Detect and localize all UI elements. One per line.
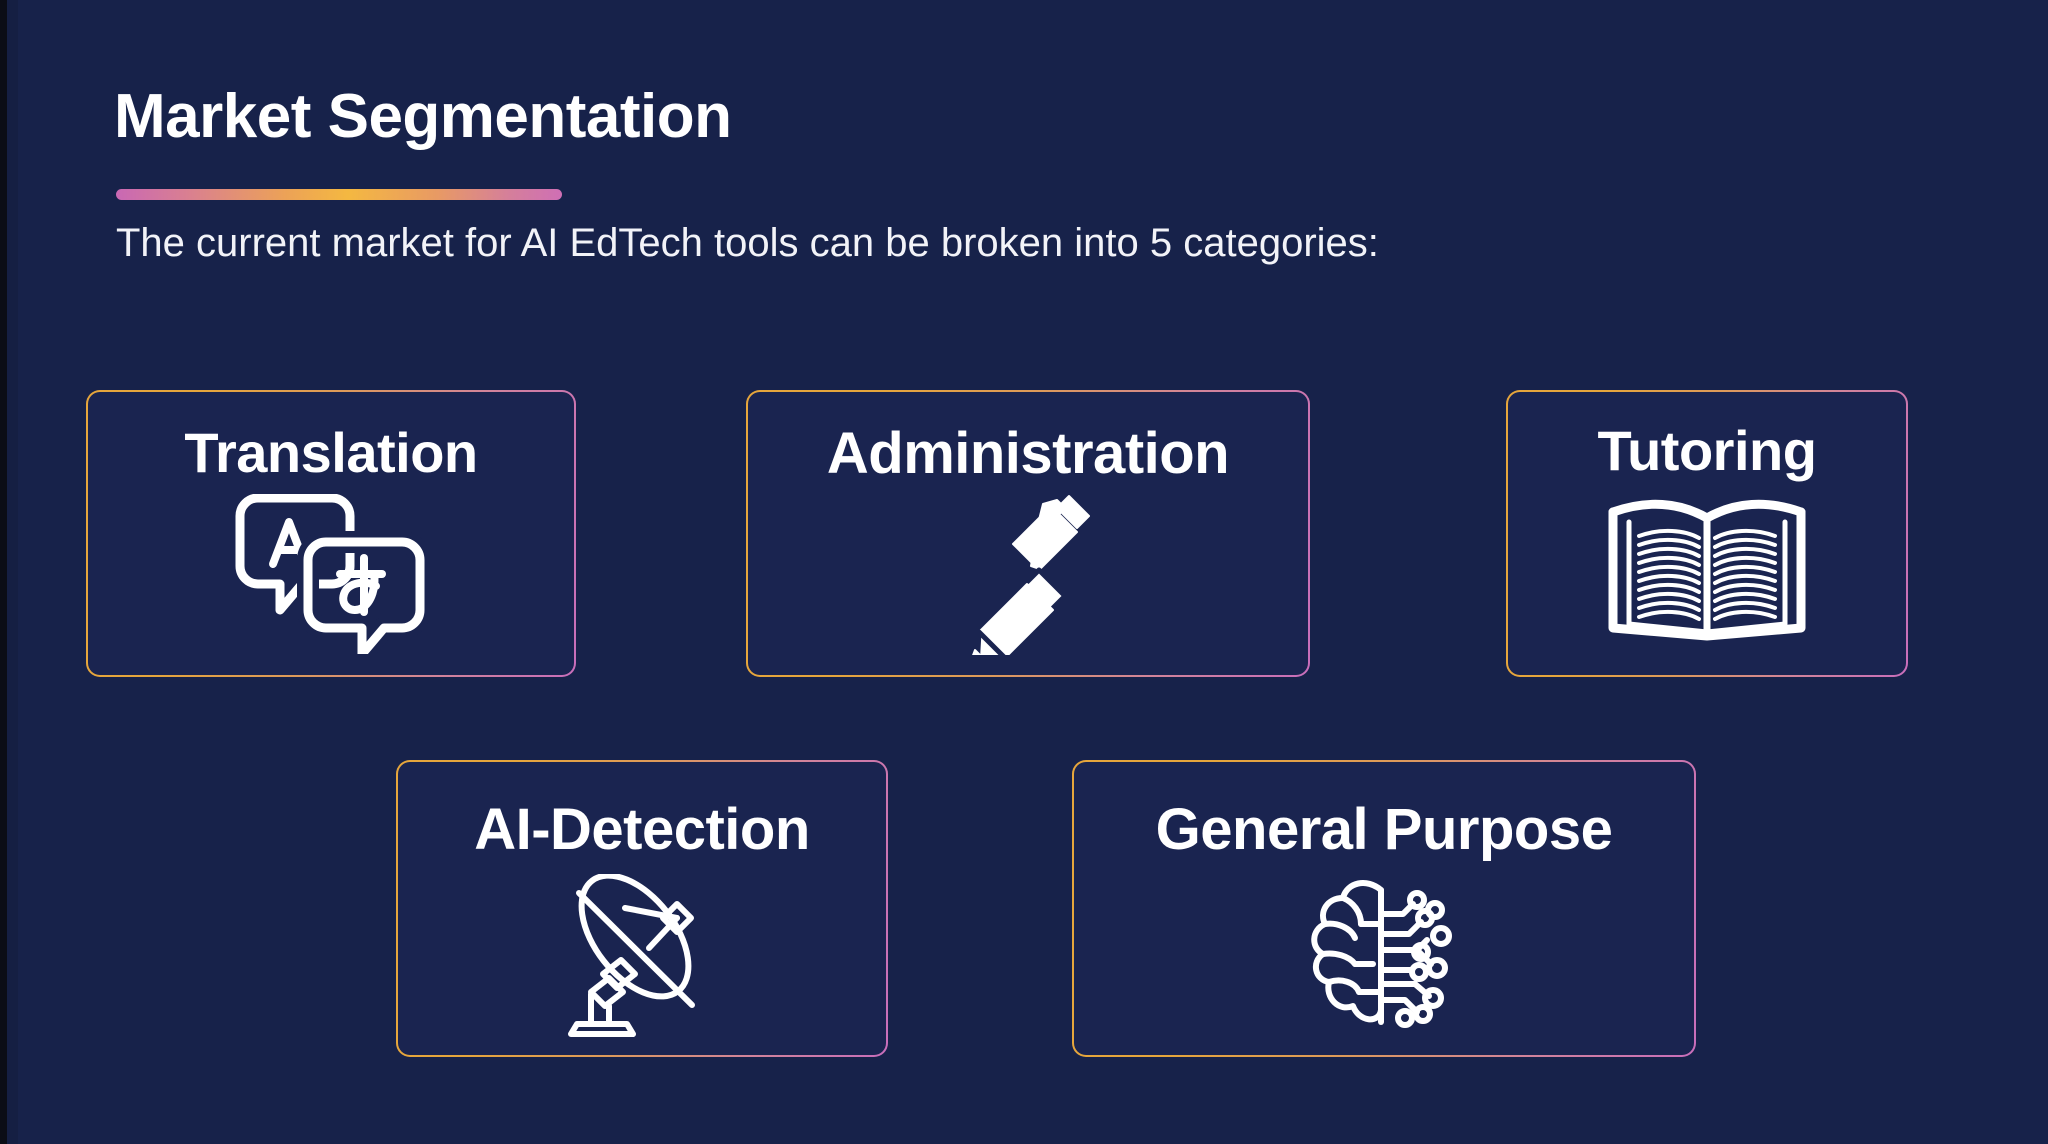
card-title-translation: Translation	[88, 420, 574, 485]
ai-brain-circuit-icon	[1074, 872, 1694, 1032]
card-inner: General Purpose	[1074, 762, 1694, 1055]
left-edge-bezel	[0, 0, 7, 1144]
pen-icon	[748, 490, 1308, 655]
card-title-ai-detection: AI-Detection	[398, 796, 886, 863]
card-inner: Tutoring	[1508, 392, 1906, 675]
card-inner: Translation	[88, 392, 574, 675]
page-subtitle: The current market for AI EdTech tools c…	[116, 221, 1379, 265]
page-title: Market Segmentation	[114, 86, 732, 148]
open-book-icon	[1508, 496, 1906, 641]
category-card-general-purpose[interactable]: General Purpose	[1072, 760, 1696, 1057]
category-card-translation[interactable]: Translation	[86, 390, 576, 677]
card-title-tutoring: Tutoring	[1508, 418, 1906, 483]
slide-canvas: Market Segmentation The current market f…	[0, 0, 2048, 1144]
card-title-general-purpose: General Purpose	[1074, 796, 1694, 863]
left-edge-shade	[7, 0, 18, 1144]
satellite-dish-icon	[398, 874, 886, 1039]
category-card-ai-detection[interactable]: AI-Detection	[396, 760, 888, 1057]
category-card-administration[interactable]: Administration	[746, 390, 1310, 677]
translate-speech-bubbles-icon	[88, 494, 574, 654]
card-title-administration: Administration	[748, 420, 1308, 487]
category-card-tutoring[interactable]: Tutoring	[1506, 390, 1908, 677]
title-accent-rule	[116, 189, 562, 200]
card-inner: Administration	[748, 392, 1308, 675]
card-inner: AI-Detection	[398, 762, 886, 1055]
